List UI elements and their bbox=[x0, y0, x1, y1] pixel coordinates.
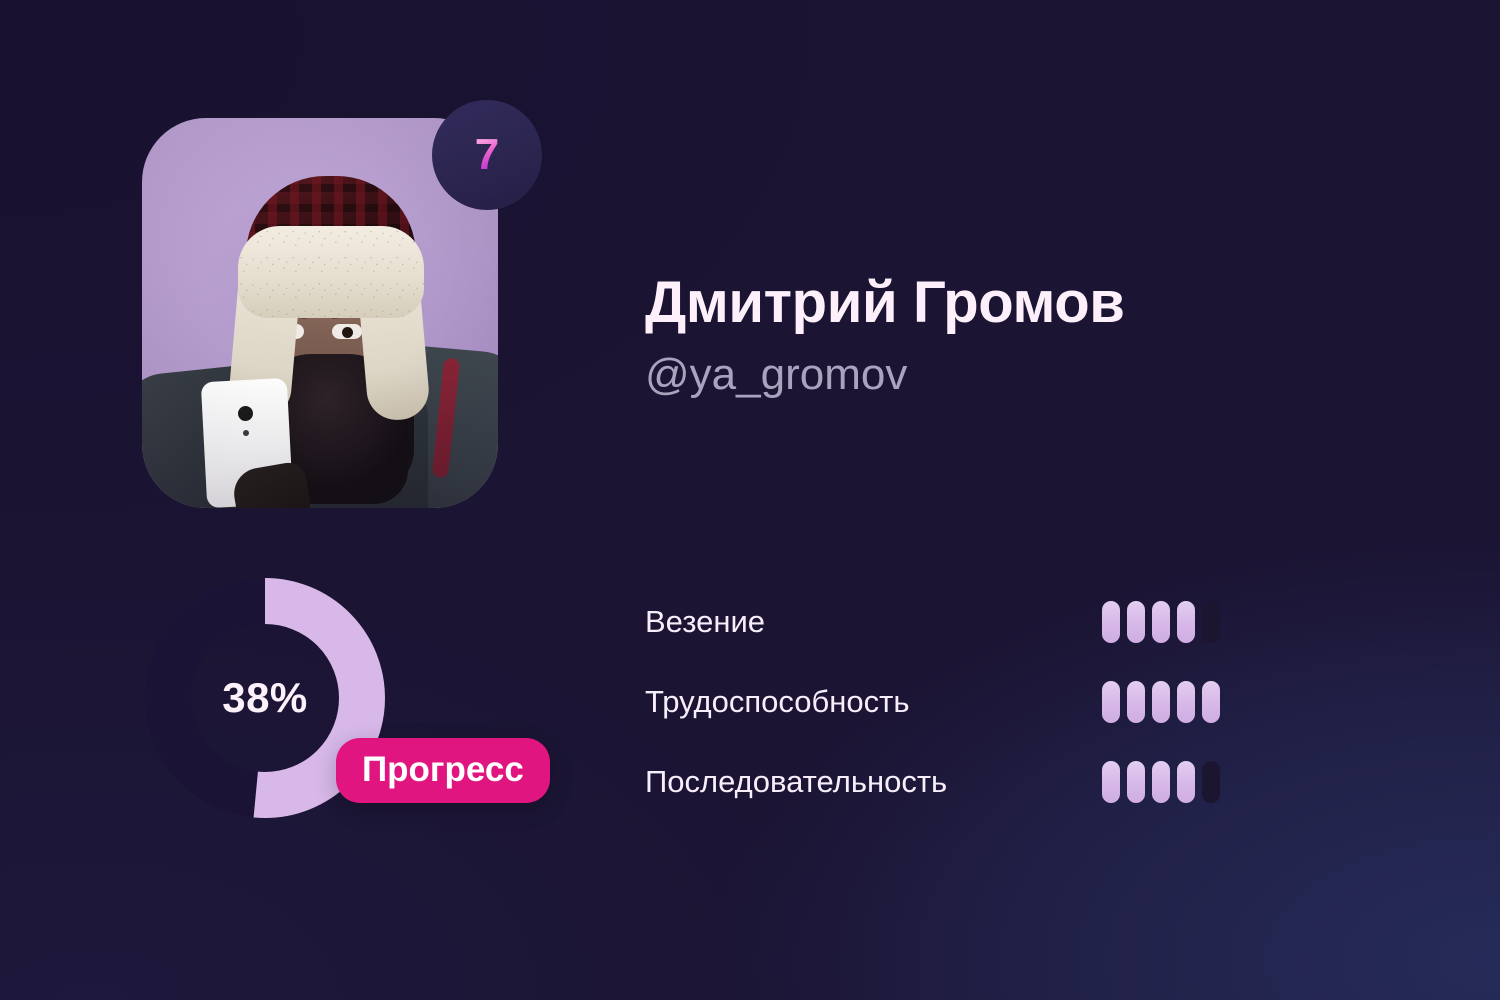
pip-filled bbox=[1152, 761, 1170, 803]
progress-block: 38% Прогресс bbox=[145, 578, 565, 840]
pip-filled bbox=[1102, 681, 1120, 723]
stat-label: Трудоспособность bbox=[645, 684, 909, 720]
stat-rating-pips bbox=[1102, 601, 1220, 643]
identity-block: Дмитрий Громов @ya_gromov bbox=[645, 272, 1125, 400]
progress-badge[interactable]: Прогресс bbox=[336, 738, 550, 803]
stat-row: Трудоспособность bbox=[645, 676, 1220, 728]
level-badge[interactable]: 7 bbox=[432, 100, 542, 210]
pip-filled bbox=[1177, 681, 1195, 723]
photo-hat-fleece-texture bbox=[238, 226, 424, 318]
stat-rating-pips bbox=[1102, 761, 1220, 803]
stat-row: Везение bbox=[645, 596, 1220, 648]
pip-filled bbox=[1102, 761, 1120, 803]
stat-label: Последовательность bbox=[645, 764, 947, 800]
stat-row: Последовательность bbox=[645, 756, 1220, 808]
profile-card: 7 Дмитрий Громов @ya_gromov 38% Прогресс… bbox=[0, 0, 1500, 1000]
pip-filled bbox=[1202, 681, 1220, 723]
pip-filled bbox=[1152, 681, 1170, 723]
pip-filled bbox=[1152, 601, 1170, 643]
stat-label: Везение bbox=[645, 604, 765, 640]
pip-filled bbox=[1127, 601, 1145, 643]
pip-empty bbox=[1202, 601, 1220, 643]
pip-filled bbox=[1177, 601, 1195, 643]
stat-rating-pips bbox=[1102, 681, 1220, 723]
pip-filled bbox=[1127, 761, 1145, 803]
photo-phone-flash bbox=[243, 430, 249, 436]
display-name: Дмитрий Громов bbox=[645, 272, 1125, 333]
pip-empty bbox=[1202, 761, 1220, 803]
level-badge-value: 7 bbox=[475, 133, 499, 177]
pip-filled bbox=[1102, 601, 1120, 643]
pip-filled bbox=[1127, 681, 1145, 723]
pip-filled bbox=[1177, 761, 1195, 803]
photo-pupil-right bbox=[342, 327, 353, 338]
stats-list: ВезениеТрудоспособностьПоследовательност… bbox=[645, 596, 1220, 808]
handle: @ya_gromov bbox=[645, 351, 1125, 399]
